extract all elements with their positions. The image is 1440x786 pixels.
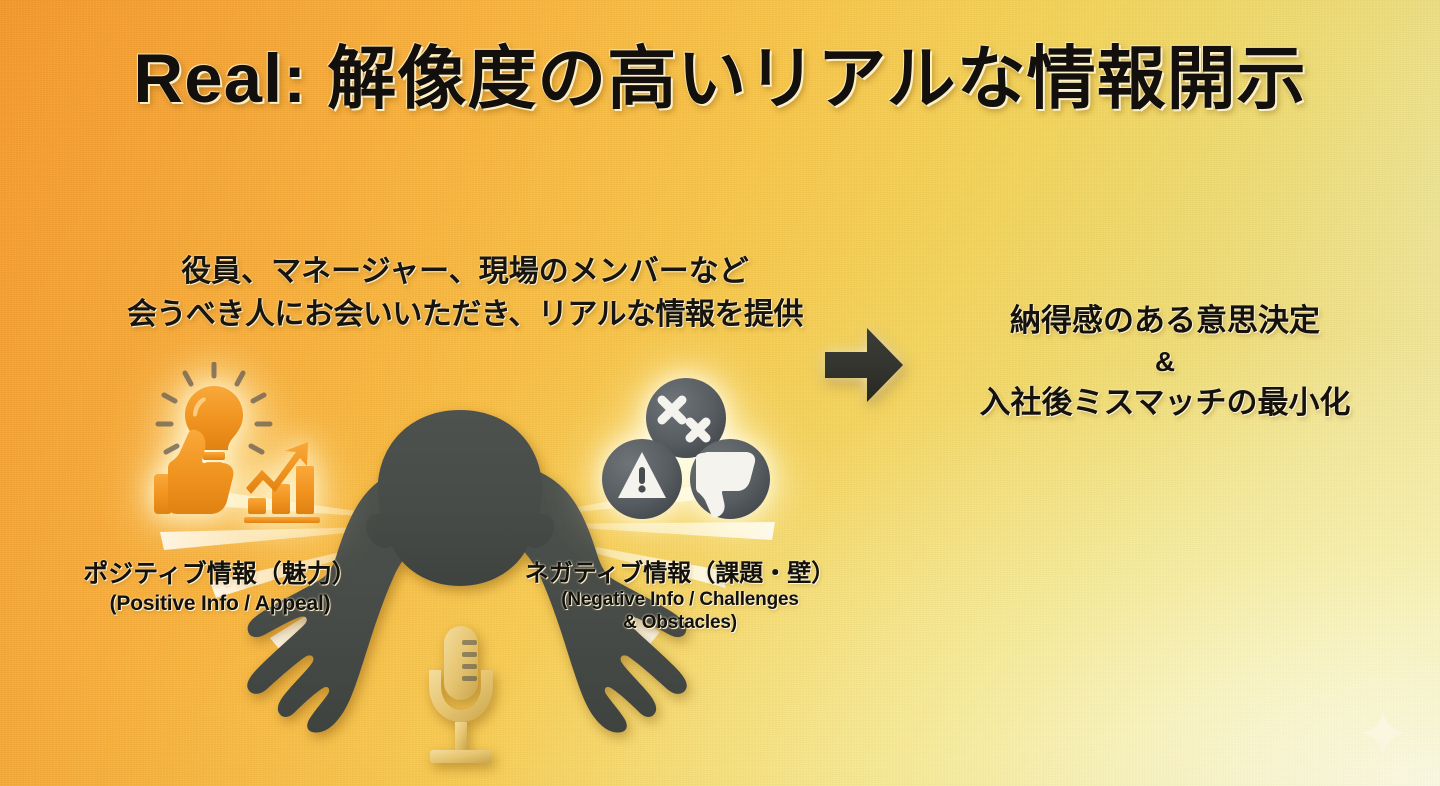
negative-label-en-line-2: & Obstacles) <box>508 611 852 634</box>
outcome-line-2: 入社後ミスマッチの最小化 <box>925 379 1405 427</box>
slide-canvas: Real: 解像度の高いリアルな情報開示 役員、マネージャー、現場のメンバーなど… <box>0 0 1440 786</box>
negative-label: ネガティブ情報（課題・壁） (Negative Info / Challenge… <box>508 560 852 635</box>
thumbs-down-icon <box>690 439 770 519</box>
outcome-connector: & <box>925 345 1405 379</box>
outcome-text: 納得感のある意思決定 & 入社後ミスマッチの最小化 <box>925 297 1405 427</box>
outcome-line-1: 納得感のある意思決定 <box>925 297 1405 345</box>
sparkle-star-icon <box>1360 710 1406 756</box>
page-title: Real: 解像度の高いリアルな情報開示 <box>0 22 1440 122</box>
bar-chart-up-icon <box>244 442 320 523</box>
warning-triangle-icon <box>602 439 682 519</box>
lightbulb-icon <box>158 364 270 470</box>
lead-description: 役員、マネージャー、現場のメンバーなど 会うべき人にお会いいただき、リアルな情報… <box>80 251 850 336</box>
positive-label-en: (Positive Info / Appeal) <box>30 590 410 617</box>
right-arrow-icon <box>823 326 905 404</box>
negative-label-en-line-1: (Negative Info / Challenges <box>508 588 852 611</box>
positive-label: ポジティブ情報（魅力） (Positive Info / Appeal) <box>30 560 410 617</box>
lead-line-1: 役員、マネージャー、現場のメンバーなど <box>80 251 850 294</box>
negative-icon-cluster <box>600 378 798 523</box>
positive-icon-cluster <box>148 362 334 524</box>
microphone-icon <box>429 626 493 763</box>
lead-line-2: 会うべき人にお会いいただき、リアルな情報を提供 <box>80 294 850 337</box>
negative-label-jp: ネガティブ情報（課題・壁） <box>508 560 852 588</box>
positive-label-jp: ポジティブ情報（魅力） <box>30 560 410 590</box>
